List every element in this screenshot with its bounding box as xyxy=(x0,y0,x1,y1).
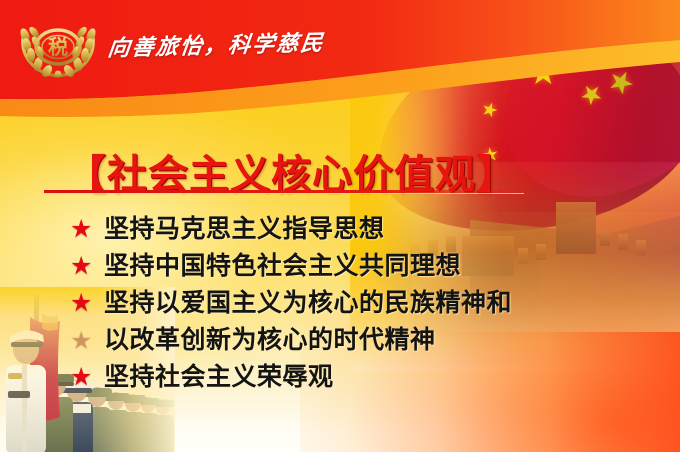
list-item: ★ 坚持马克思主义指导思想 xyxy=(70,212,590,246)
header-banner xyxy=(0,0,680,130)
title-underline xyxy=(44,190,524,193)
list-item: ★ 坚持社会主义荣辱观 xyxy=(70,360,590,394)
values-list: ★ 坚持马克思主义指导思想 ★ 坚持中国特色社会主义共同理想 ★ 坚持以爱国主义… xyxy=(70,212,590,397)
star-bullet-icon: ★ xyxy=(70,286,104,320)
list-item: ★ 坚持中国特色社会主义共同理想 xyxy=(70,249,590,283)
bullet-spacer: ★ xyxy=(70,323,104,357)
list-item-text: 坚持社会主义荣辱观 xyxy=(104,360,334,394)
propaganda-poster: ★ ★ ★ ★ ★ xyxy=(0,0,680,452)
china-taxation-emblem: 税 xyxy=(14,16,102,80)
list-item-continuation: ★ 以改革创新为核心的时代精神 xyxy=(70,323,590,357)
star-bullet-icon: ★ xyxy=(70,360,104,394)
list-item: ★ 坚持以爱国主义为核心的民族精神和 xyxy=(70,286,590,320)
list-item-text: 坚持中国特色社会主义共同理想 xyxy=(104,249,461,283)
star-bullet-icon: ★ xyxy=(70,212,104,246)
header-slogan: 向善旅怡，科学慈民 xyxy=(105,23,310,70)
star-bullet-icon: ★ xyxy=(70,249,104,283)
list-item-text: 坚持以爱国主义为核心的民族精神和 xyxy=(104,286,512,320)
list-item-text: 以改革创新为核心的时代精神 xyxy=(104,323,436,357)
emblem-character: 税 xyxy=(48,35,68,59)
list-item-text: 坚持马克思主义指导思想 xyxy=(104,212,385,246)
